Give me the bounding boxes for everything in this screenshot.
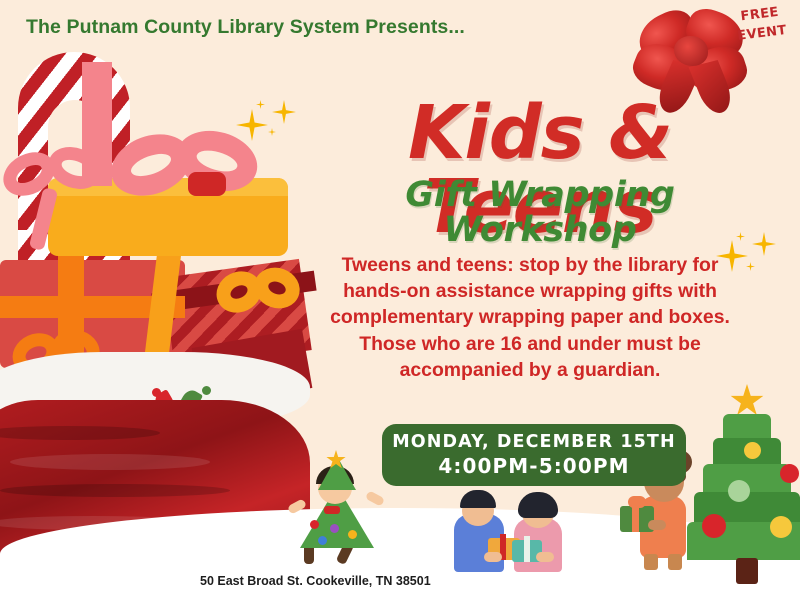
event-description: Tweens and teens: stop by the library fo… [330, 252, 730, 383]
poster-canvas: FREE EVENT The Putnam County Library Sys… [0, 0, 800, 600]
orange-bow-right-icon [216, 268, 326, 326]
tree-trunk [736, 558, 758, 584]
event-time: 4:00PM-5:00PM [438, 454, 629, 478]
sparkle-icon [272, 100, 296, 124]
organization-header: The Putnam County Library System Present… [26, 16, 465, 39]
pink-bow-large-icon [110, 130, 300, 196]
event-date: MONDAY, DECEMBER 15TH [392, 432, 675, 452]
sparkle-icon [256, 100, 265, 109]
free-event-badge: FREE EVENT [724, 2, 798, 48]
sparkle-icon [746, 262, 755, 271]
page-subtitle: Gift Wrapping Workshop [310, 178, 770, 248]
child-tree-costume-illustration [284, 450, 388, 562]
christmas-tree-illustration [688, 388, 800, 578]
two-children-with-gifts-illustration [448, 488, 574, 580]
pink-bow-small-icon [2, 148, 132, 244]
event-date-banner: MONDAY, DECEMBER 15TH 4:00PM-5:00PM [382, 424, 686, 486]
venue-address: 50 East Broad St. Cookeville, TN 38501 [200, 574, 431, 588]
tree-star-icon [730, 384, 764, 418]
